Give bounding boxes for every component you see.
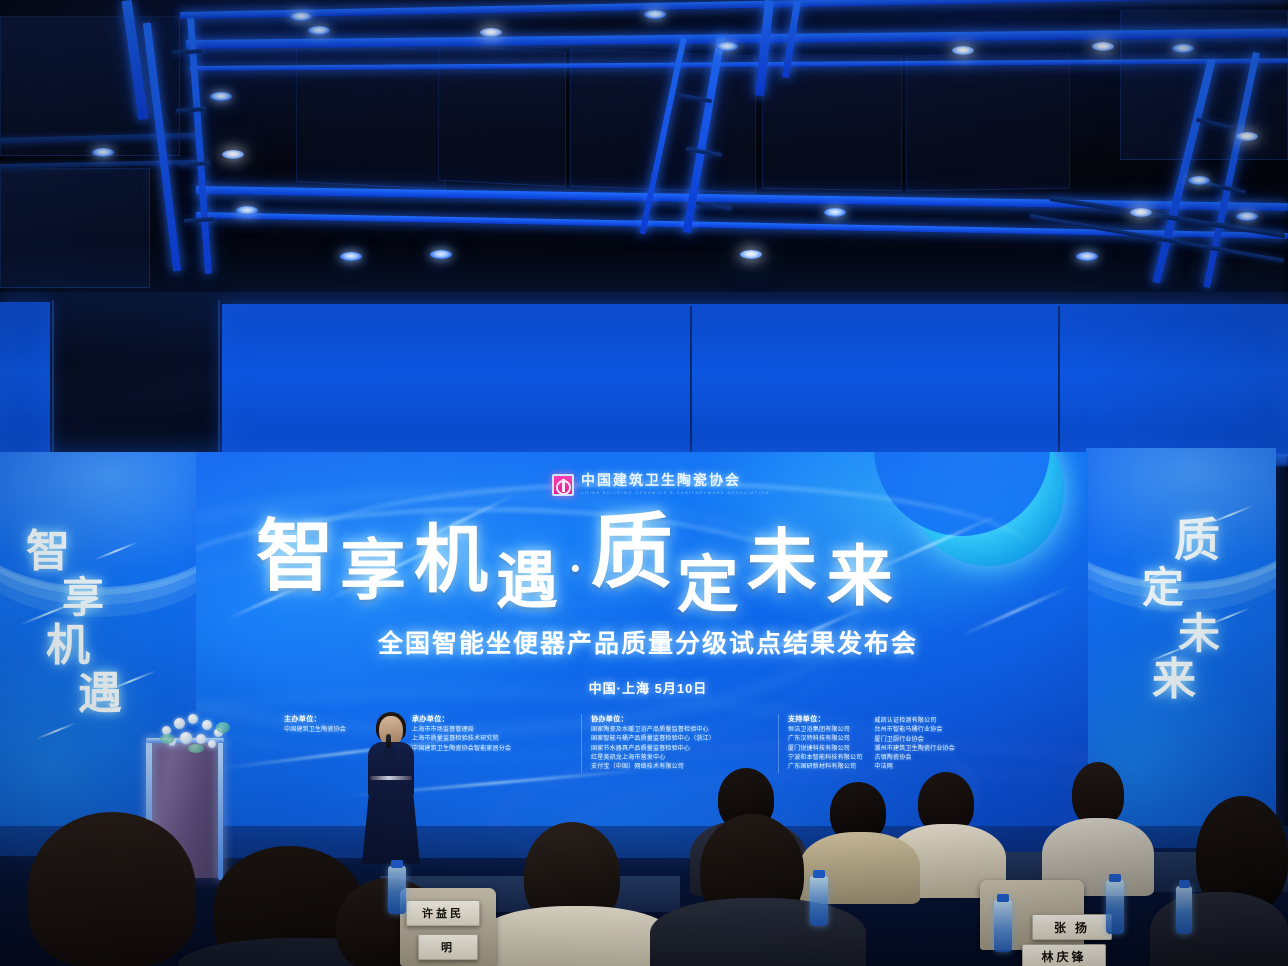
bottle-cap xyxy=(813,870,825,878)
sponsor-entry: 中国建筑卫生陶瓷协会智能家居分会 xyxy=(412,745,572,754)
presenter-belt xyxy=(370,776,412,780)
ceiling-spotlight-icon xyxy=(716,42,738,51)
left-banner-char: 享 xyxy=(62,578,122,620)
sponsor-entry: 国家陶瓷及水暖卫浴产品质量监督检验中心 xyxy=(591,726,769,735)
ceiling-beam xyxy=(172,49,202,55)
bottle-cap xyxy=(1179,880,1190,888)
presenter xyxy=(356,712,428,868)
name-card-label: 林庆锋 xyxy=(1041,948,1086,965)
ceiling-spotlight-icon xyxy=(308,26,330,35)
sponsor-entry: 宁波和本智能科技有限公司 xyxy=(788,754,862,763)
ceiling-spotlight-icon xyxy=(1092,42,1114,51)
ceiling-spotlight-icon xyxy=(480,28,502,37)
name-card: 张 扬 xyxy=(1032,914,1112,940)
conference-photo-scene: 智 享 机 遇 质 定 未 来 xyxy=(0,0,1288,966)
bottle-cap xyxy=(391,860,403,868)
name-card-label: 张 扬 xyxy=(1054,919,1090,936)
audience-shoulders xyxy=(650,898,866,966)
sponsor-supporter-left: 恒洁卫浴集团有限公司 广东汉特科技有限公司 厦门锐捷科技有限公司 宁波和本智能科… xyxy=(788,726,862,773)
wall-seam xyxy=(1058,306,1060,454)
sponsor-heading: 协办单位： xyxy=(591,714,769,724)
water-bottle xyxy=(1176,886,1192,934)
sponsor-entry: 厦门锐捷科技有限公司 xyxy=(788,745,862,754)
event-subtitle: 全国智能坐便器产品质量分级试点结果发布会 xyxy=(258,624,1038,660)
sponsor-entry: 上海市市场监督管理局 xyxy=(412,726,572,735)
association-name-cn: 中国建筑卫生陶瓷协会 xyxy=(581,475,770,489)
water-bottle xyxy=(388,866,406,914)
sponsor-entry: 广东国研新材料有限公司 xyxy=(788,763,862,772)
water-bottle xyxy=(1106,880,1124,934)
name-card-label: 许益民 xyxy=(422,905,464,921)
title-char: 质 xyxy=(591,514,673,592)
ceiling-spotlight-icon xyxy=(644,10,666,19)
ceramics-association-logo-icon xyxy=(552,474,574,496)
sponsor-entry: 国家智能马桶产品质量监督检验中心（浙江） xyxy=(591,735,769,744)
ceiling-beam xyxy=(196,212,1288,239)
ceiling-spotlight-icon xyxy=(236,206,258,215)
sponsor-column-co-organizer: 协办单位： 国家陶瓷及水暖卫浴产品质量监督检验中心 国家智能马桶产品质量监督检验… xyxy=(591,714,769,772)
right-banner-char: 未 xyxy=(1178,614,1220,656)
lectern-flower-arrangement xyxy=(158,712,236,752)
banner-dash-decor xyxy=(35,722,77,740)
water-bottle xyxy=(810,876,828,926)
right-banner-char: 定 xyxy=(1142,568,1220,610)
ceiling-beam xyxy=(176,107,206,113)
ceiling-beam xyxy=(187,18,212,274)
wall-led-panel xyxy=(222,304,1288,456)
microphone-icon xyxy=(386,734,391,748)
title-char: 未 xyxy=(747,531,817,598)
ceiling-spotlight-icon xyxy=(824,208,846,217)
ceiling-spotlight-icon xyxy=(340,252,362,261)
ceiling-spotlight-icon xyxy=(290,12,312,21)
ceiling-spotlight-icon xyxy=(952,46,974,55)
ceiling-spotlight-icon xyxy=(1076,252,1098,261)
right-banner-text: 质 定 未 来 xyxy=(1138,518,1220,702)
sponsor-entry: 潮州市建筑卫生陶瓷行业协会 xyxy=(874,745,955,754)
ceiling-truss-area xyxy=(0,0,1288,300)
wall-dark-window xyxy=(52,300,220,458)
ceiling-spotlight-icon xyxy=(1236,212,1258,221)
title-char: 机 xyxy=(414,526,488,596)
ceiling-beam xyxy=(1030,214,1285,263)
name-card-label: 明 xyxy=(441,939,455,955)
name-card: 明 xyxy=(418,934,478,960)
ceiling-beam xyxy=(180,161,210,167)
bottle-cap xyxy=(1109,874,1121,882)
left-banner-char: 智 xyxy=(26,530,122,574)
back-wall xyxy=(0,292,1288,462)
left-banner-text: 智 享 机 遇 xyxy=(22,530,122,716)
right-banner-char: 来 xyxy=(1152,658,1220,702)
audience-shoulders xyxy=(476,906,676,966)
ceiling-spotlight-icon xyxy=(210,92,232,101)
lectern-edge-light xyxy=(218,740,223,880)
sponsor-divider xyxy=(581,714,582,773)
ceiling-panel xyxy=(906,53,1070,192)
left-banner-char: 机 xyxy=(46,624,122,668)
title-char: 享 xyxy=(340,541,406,604)
sponsor-entry: 上海市质量监督检验技术研究院 xyxy=(412,735,572,744)
sponsor-column-supporter: 支持单位： 恒洁卫浴集团有限公司 广东汉特科技有限公司 厦门锐捷科技有限公司 宁… xyxy=(788,714,955,773)
sponsor-entry: 台州市智能马桶行业协会 xyxy=(874,726,955,735)
ceiling-spotlight-icon xyxy=(222,150,244,159)
sponsor-entry: 国家节水器具产品质量监督检验中心 xyxy=(591,745,769,754)
sponsor-heading: 承办单位： xyxy=(412,714,572,724)
ceiling-spotlight-icon xyxy=(1130,208,1152,217)
ceiling-spotlight-icon xyxy=(430,250,452,259)
title-char-dot: · xyxy=(568,548,583,590)
ceiling-spotlight-icon xyxy=(1172,44,1194,53)
ceiling-beam xyxy=(696,201,732,211)
ceiling-spotlight-icon xyxy=(1236,132,1258,141)
sponsor-column-organizer: 承办单位： 上海市市场监督管理局 上海市质量监督检验技术研究院 中国建筑卫生陶瓷… xyxy=(412,714,572,754)
association-name-en: CHINA BUILDING CERAMICS & SANITARYWARE A… xyxy=(581,491,770,495)
ceiling-panel xyxy=(0,168,150,288)
sponsor-entry: 广东汉特科技有限公司 xyxy=(788,735,862,744)
audience-shoulders xyxy=(1150,892,1288,966)
water-bottle xyxy=(994,900,1012,952)
sponsor-entry: 威凯认证检测有限公司 xyxy=(874,717,955,726)
name-card: 林庆锋 xyxy=(1022,944,1106,966)
association-logo-row: 中国建筑卫生陶瓷协会 CHINA BUILDING CERAMICS & SAN… xyxy=(552,474,770,496)
wall-seam xyxy=(690,306,692,454)
ceiling-beam xyxy=(184,217,214,223)
left-banner-char: 遇 xyxy=(78,672,122,716)
title-char: 智 xyxy=(256,520,334,594)
sponsor-supporter-pair: 恒洁卫浴集团有限公司 广东汉特科技有限公司 厦门锐捷科技有限公司 宁波和本智能科… xyxy=(788,726,955,773)
sponsor-divider xyxy=(778,714,779,773)
association-name-block: 中国建筑卫生陶瓷协会 CHINA BUILDING CERAMICS & SAN… xyxy=(581,475,770,495)
bottle-cap xyxy=(997,894,1009,902)
ceiling-spotlight-icon xyxy=(92,148,114,157)
title-char: 遇 xyxy=(496,553,558,612)
sponsor-entry: 古镇陶瓷协会 xyxy=(874,754,955,763)
presenter-skirt xyxy=(362,780,420,864)
ceiling-spotlight-icon xyxy=(1188,176,1210,185)
audience-head xyxy=(1072,762,1124,826)
ceiling-spotlight-icon xyxy=(740,250,762,259)
sponsor-entry: 厦门卫厨行业协会 xyxy=(874,736,955,745)
name-card: 许益民 xyxy=(406,900,480,926)
right-banner-char: 质 xyxy=(1174,518,1220,564)
title-char: 来 xyxy=(827,547,893,610)
wall-led-panel xyxy=(0,302,50,458)
title-char: 定 xyxy=(677,557,739,616)
sponsor-supporter-right: 威凯认证检测有限公司 台州市智能马桶行业协会 厦门卫厨行业协会 潮州市建筑卫生陶… xyxy=(874,717,955,773)
sponsor-entry: 红星美凯龙上海市营发中心 xyxy=(591,754,769,763)
event-main-title: 智 享 机 遇 · 质 定 未 来 xyxy=(256,514,893,594)
sponsor-entry: 恒洁卫浴集团有限公司 xyxy=(788,726,862,735)
audience-head xyxy=(28,812,196,966)
event-date-line: 中国·上海 5月10日 xyxy=(258,678,1038,697)
